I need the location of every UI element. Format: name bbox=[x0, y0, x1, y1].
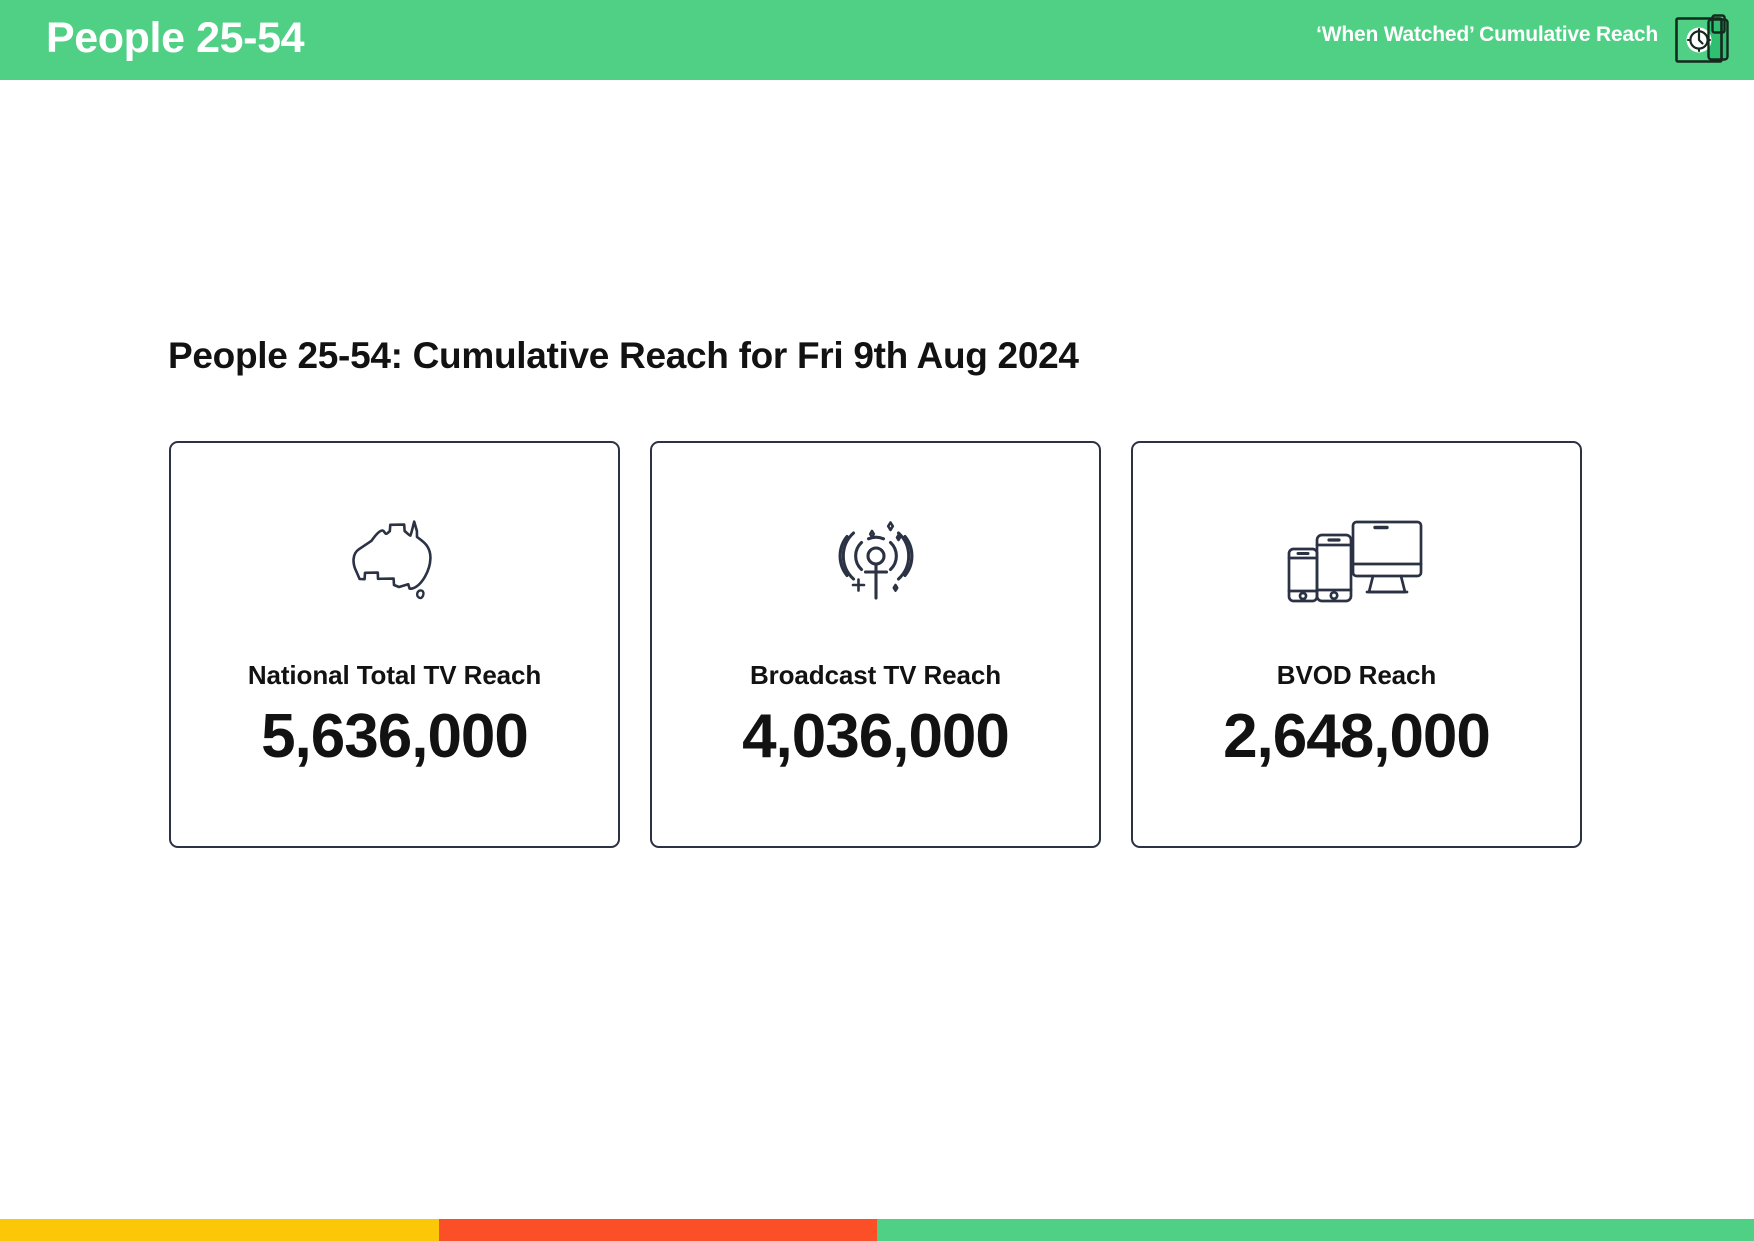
kpi-card-broadcast-tv[interactable]: Broadcast TV Reach 4,036,000 bbox=[650, 441, 1101, 848]
footer-color-bar bbox=[0, 1219, 1754, 1241]
kpi-card-label: National Total TV Reach bbox=[248, 660, 541, 691]
kpi-card-label: BVOD Reach bbox=[1277, 660, 1436, 691]
kpi-card-value: 4,036,000 bbox=[742, 703, 1009, 771]
header-right-group: ‘When Watched’ Cumulative Reach bbox=[1316, 9, 1736, 71]
header-band: People 25-54 ‘When Watched’ Cumulative R… bbox=[0, 0, 1754, 80]
australia-map-icon bbox=[348, 513, 442, 609]
header-subtitle: ‘When Watched’ Cumulative Reach bbox=[1316, 23, 1658, 57]
devices-icon bbox=[1287, 513, 1427, 609]
broadcast-antenna-icon bbox=[828, 513, 924, 609]
kpi-card-national-total-tv[interactable]: National Total TV Reach 5,636,000 bbox=[169, 441, 620, 848]
kpi-card-value: 2,648,000 bbox=[1223, 703, 1490, 771]
kpi-card-bvod[interactable]: BVOD Reach 2,648,000 bbox=[1131, 441, 1582, 848]
kpi-cards-row: National Total TV Reach 5,636,000 bbox=[169, 441, 1582, 848]
page-title: People 25-54 bbox=[46, 17, 304, 64]
kpi-card-value: 5,636,000 bbox=[261, 703, 528, 771]
content-title: People 25-54: Cumulative Reach for Fri 9… bbox=[168, 335, 1079, 377]
slide-root: People 25-54 ‘When Watched’ Cumulative R… bbox=[0, 0, 1754, 1241]
footer-segment-yellow bbox=[0, 1219, 439, 1241]
footer-segment-orange bbox=[439, 1219, 878, 1241]
kpi-card-label: Broadcast TV Reach bbox=[750, 660, 1001, 691]
clock-screen-logo-icon bbox=[1672, 9, 1736, 71]
footer-segment-green bbox=[877, 1219, 1754, 1241]
